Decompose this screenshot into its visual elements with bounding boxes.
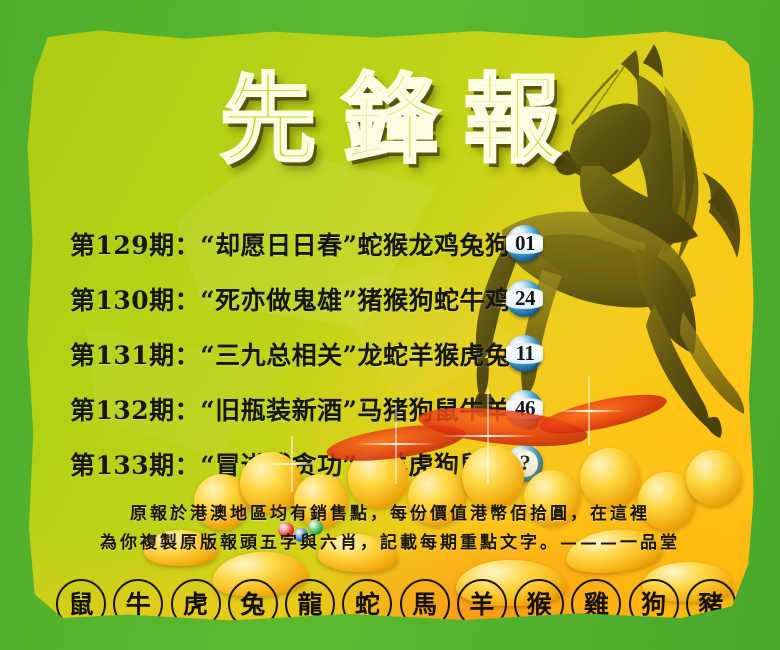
forecast-issue-132: 第132期： — [70, 391, 200, 427]
forecast-row-132: 第132期： “旧瓶装新酒” 马猪狗鼠牛羊 46 — [70, 381, 590, 436]
lottery-ball-133: ? — [506, 445, 543, 482]
disclaimer-line-2: 為你複製原版報頭五字與六肖，記載每期重點文字。———一品堂 — [26, 529, 754, 558]
lottery-ball-131: 11 — [506, 335, 543, 372]
forecast-zodiac-132: 马猪狗鼠牛羊 — [357, 391, 510, 427]
ball-number-132: 46 — [506, 390, 543, 427]
lottery-ball-132: 46 — [506, 390, 543, 427]
disclaimer-line-1: 原報於港澳地區均有銷售點，每份價值港幣佰拾圓，在這裡 — [26, 500, 754, 529]
zodiac-glyph: 狗 — [641, 585, 666, 621]
forecast-phrase-132: “旧瓶装新酒” — [200, 391, 357, 427]
poster-inner-panel: 先鋒報 第129期： “却愿日日春” 蛇猴龙鸡兔狗 01 第130期： “死亦做… — [26, 28, 754, 624]
zodiac-glyph: 虎 — [183, 585, 208, 621]
forecast-issue-129: 第129期： — [70, 226, 200, 262]
forecast-list: 第129期： “却愿日日春” 蛇猴龙鸡兔狗 01 第130期： “死亦做鬼雄” … — [70, 216, 590, 491]
zodiac-glyph: 兔 — [240, 585, 265, 621]
zodiac-glyph: 鼠 — [68, 585, 93, 621]
forecast-row-131: 第131期： “三九总相关” 龙蛇羊猴虎兔 11 — [70, 326, 590, 381]
forecast-phrase-130: “死亦做鬼雄” — [200, 281, 357, 317]
forecast-phrase-133: “冒进或贪功” — [200, 446, 357, 482]
ball-number-133: ? — [506, 445, 543, 482]
ball-number-131: 11 — [506, 335, 543, 372]
lottery-forecast-poster: 先鋒報 第129期： “却愿日日春” 蛇猴龙鸡兔狗 01 第130期： “死亦做… — [0, 0, 780, 650]
forecast-zodiac-130: 猪猴狗蛇牛鸡 — [357, 281, 510, 317]
forecast-zodiac-129: 蛇猴龙鸡兔狗 — [357, 226, 510, 262]
zodiac-medallion-goat[interactable]: 羊 — [457, 579, 507, 624]
gold-coin — [686, 450, 742, 506]
forecast-phrase-131: “三九总相关” — [200, 336, 357, 372]
page-title: 先鋒報 — [194, 72, 586, 170]
forecast-row-129: 第129期： “却愿日日春” 蛇猴龙鸡兔狗 01 — [70, 216, 590, 271]
disclaimer-notes: 原報於港澳地區均有銷售點，每份價值港幣佰拾圓，在這裡 為你複製原版報頭五字與六肖… — [26, 500, 754, 558]
zodiac-glyph: 馬 — [412, 585, 437, 621]
forecast-issue-131: 第131期： — [70, 336, 200, 372]
forecast-zodiac-133: 蛇羊虎狗鼠猪 — [357, 446, 510, 482]
forecast-row-130: 第130期： “死亦做鬼雄” 猪猴狗蛇牛鸡 24 — [70, 271, 590, 326]
forecast-phrase-129: “却愿日日春” — [200, 226, 357, 262]
lottery-ball-130: 24 — [506, 280, 543, 317]
forecast-issue-130: 第130期： — [70, 281, 200, 317]
poster-title-container: 先鋒報 — [26, 72, 754, 170]
zodiac-glyph: 羊 — [469, 585, 494, 621]
forecast-zodiac-131: 龙蛇羊猴虎兔 — [357, 336, 510, 372]
ball-number-130: 24 — [506, 280, 543, 317]
forecast-row-133: 第133期： “冒进或贪功” 蛇羊虎狗鼠猪 ? — [70, 436, 590, 491]
ball-number-129: 01 — [506, 225, 543, 262]
zodiac-medallion-tiger[interactable]: 虎 — [171, 579, 221, 624]
lottery-ball-129: 01 — [506, 225, 543, 262]
forecast-issue-133: 第133期： — [70, 446, 200, 482]
zodiac-medallion-rabbit[interactable]: 兔 — [228, 579, 278, 624]
